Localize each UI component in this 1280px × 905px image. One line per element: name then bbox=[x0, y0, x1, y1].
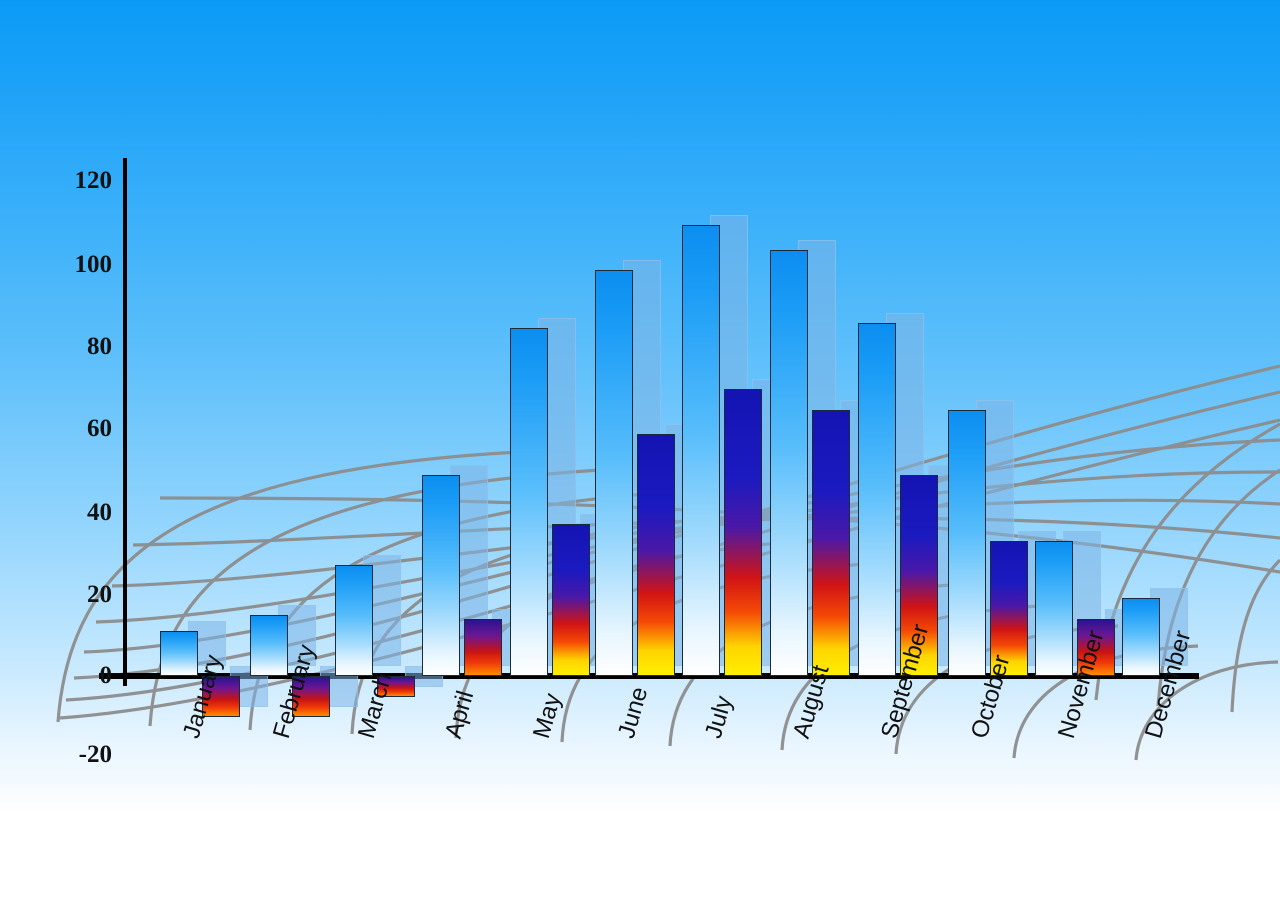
y-axis-label-100: 100 bbox=[56, 252, 112, 277]
bar-body bbox=[858, 323, 896, 676]
bar-body bbox=[250, 615, 288, 677]
y-axis-label-neg20: -20 bbox=[50, 742, 112, 767]
chart-canvas: 120 100 80 60 40 20 0 -20 JanuaryFebruar… bbox=[0, 0, 1280, 905]
bar-body bbox=[335, 565, 373, 676]
x-axis-label-july: July bbox=[700, 693, 739, 742]
bar-body bbox=[948, 410, 986, 677]
bar-body bbox=[552, 524, 590, 676]
x-axis-label-april: April bbox=[440, 688, 480, 742]
bar-body bbox=[510, 328, 548, 677]
x-axis-label-may: May bbox=[528, 690, 567, 741]
x-axis-label-june: June bbox=[613, 684, 654, 742]
y-axis-label-0: 0 bbox=[56, 663, 112, 688]
bar-body bbox=[422, 475, 460, 676]
y-axis-label-80: 80 bbox=[56, 334, 112, 359]
y-axis-label-40: 40 bbox=[56, 500, 112, 525]
bar-body bbox=[1035, 541, 1073, 676]
bar-body bbox=[637, 434, 675, 676]
y-axis-label-60: 60 bbox=[56, 416, 112, 441]
y-tick-0 bbox=[113, 674, 135, 678]
y-axis-label-20: 20 bbox=[56, 582, 112, 607]
bar-body bbox=[724, 389, 762, 676]
bar-series1-march bbox=[335, 565, 401, 676]
bar-body bbox=[770, 250, 808, 676]
bar-body bbox=[682, 225, 720, 676]
y-axis-label-120: 120 bbox=[56, 168, 112, 193]
x-axis-label-march: March bbox=[353, 670, 398, 742]
bar-body bbox=[160, 631, 198, 676]
bar-body bbox=[812, 410, 850, 677]
bar-body bbox=[1122, 598, 1160, 676]
bar-body bbox=[595, 270, 633, 676]
bar-body bbox=[464, 619, 502, 676]
y-axis-line bbox=[123, 158, 127, 686]
